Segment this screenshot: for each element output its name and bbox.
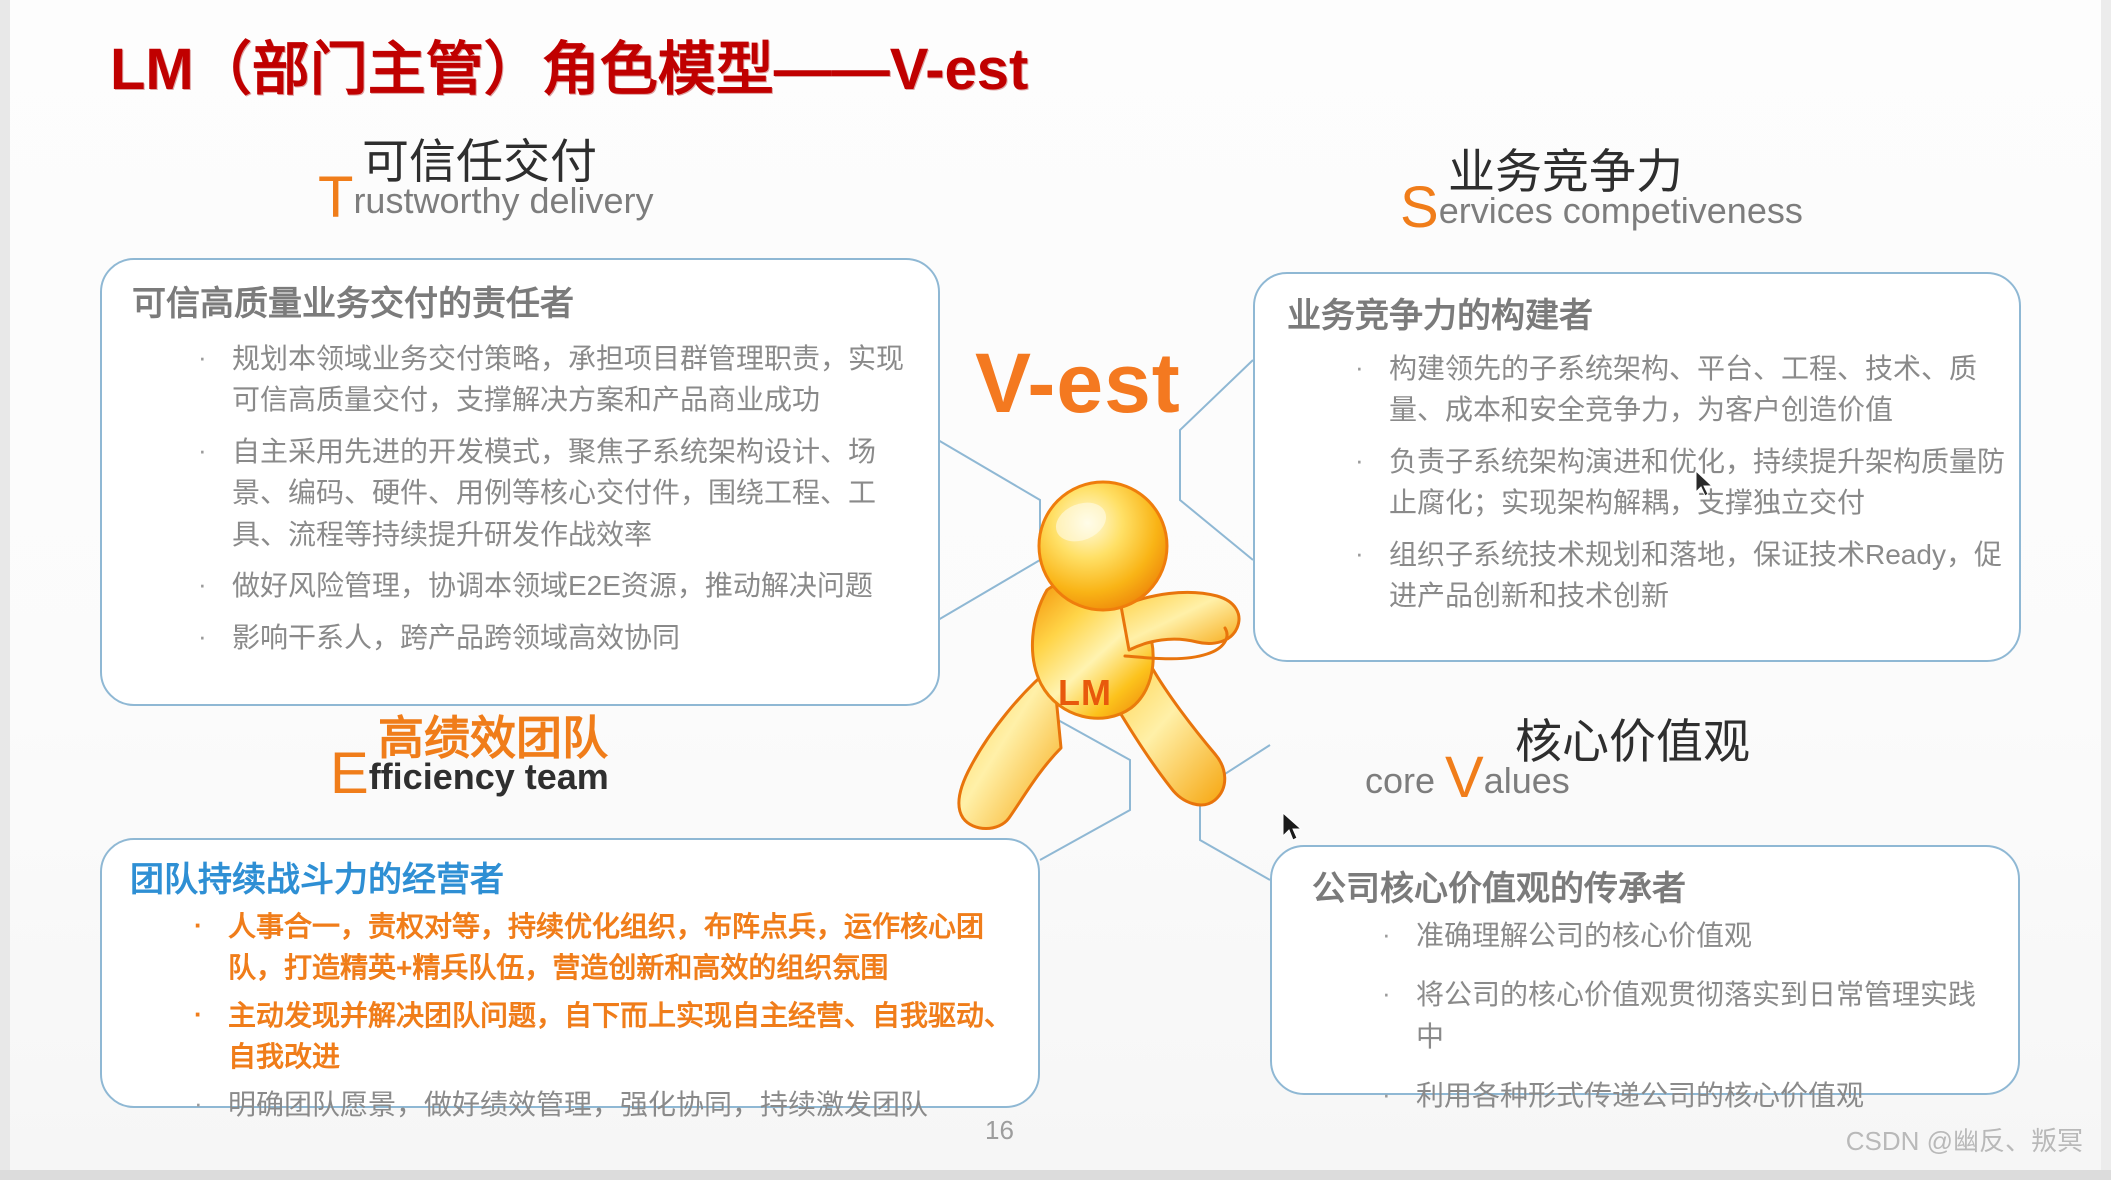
bullet-marker: · [1355, 441, 1389, 479]
bullet-text: 准确理解公司的核心价值观 [1416, 915, 2002, 956]
bullet-text: 人事合一，责权对等，持续优化组织，布阵点兵，运作核心团队，打造精英+精兵队伍，营… [228, 906, 1034, 989]
page-number: 16 [985, 1115, 1014, 1146]
callout-box-values: 公司核心价值观的传承者 ·准确理解公司的核心价值观·将公司的核心价值观贯彻落实到… [1270, 845, 2020, 1095]
callout-bullet-list: ·规划本领域业务交付策略，承担项目群管理职责，实现可信高质量交付，支撑解决方案和… [198, 338, 928, 668]
bullet-text: 规划本领域业务交付策略，承担项目群管理职责，实现可信高质量交付，支撑解决方案和产… [232, 338, 928, 421]
callout-title: 可信高质量业务交付的责任者 [132, 276, 574, 325]
quadrant-header-cn: 高绩效团队 [378, 715, 609, 762]
quadrant-header-en: Trustworthy delivery [318, 182, 654, 220]
quadrant-initial-letter: S [1400, 175, 1439, 240]
bullet-marker: · [1382, 974, 1416, 1012]
callout-bullet-item: ·利用各种形式传递公司的核心价值观 [1382, 1075, 2002, 1116]
quadrant-header-en-rest: alues [1484, 760, 1570, 801]
callout-title: 业务竞争力的构建者 [1287, 288, 1593, 337]
bullet-text: 影响干系人，跨产品跨领域高效协同 [232, 617, 928, 658]
quadrant-header-en: Services competiveness [1400, 192, 1803, 230]
callout-title: 公司核心价值观的传承者 [1312, 861, 1686, 910]
bullet-marker: · [1355, 348, 1389, 386]
quadrant-initial-letter: T [318, 165, 353, 230]
bullet-text: 做好风险管理，协调本领域E2E资源，推动解决问题 [232, 565, 928, 606]
quadrant-header-en-prefix: core [1365, 760, 1445, 801]
callout-bullet-list: ·构建领先的子系统架构、平台、工程、技术、质量、成本和安全竞争力，为客户创造价值… [1355, 348, 2005, 627]
quadrant-header-en: Efficiency team [330, 758, 609, 796]
bullet-marker: · [1382, 915, 1416, 953]
bullet-text: 主动发现并解决团队问题，自下而上实现自主经营、自我驱动、自我改进 [228, 995, 1034, 1078]
callout-box-efficiency: 团队持续战斗力的经营者 ·人事合一，责权对等，持续优化组织，布阵点兵，运作核心团… [100, 838, 1040, 1108]
quadrant-header-cn: 业务竞争力 [1448, 148, 1803, 196]
callout-bullet-item: ·主动发现并解决团队问题，自下而上实现自主经营、自我驱动、自我改进 [194, 995, 1034, 1078]
callout-box-trustworthy: 可信高质量业务交付的责任者 ·规划本领域业务交付策略，承担项目群管理职责，实现可… [100, 258, 940, 706]
bullet-marker: · [198, 617, 232, 655]
quadrant-header-values: 核心价值观 core Values [1365, 718, 1750, 800]
bullet-marker: · [198, 431, 232, 469]
bullet-text: 将公司的核心价值观贯彻落实到日常管理实践中 [1416, 974, 2002, 1057]
bullet-text: 组织子系统技术规划和落地，保证技术Ready，促进产品创新和技术创新 [1389, 534, 2005, 617]
quadrant-header-cn: 核心价值观 [1515, 718, 1750, 766]
quadrant-header-cn: 可信任交付 [362, 138, 654, 186]
mouse-cursor [1282, 812, 1304, 844]
slide-edge-left [0, 0, 10, 1180]
bullet-text: 利用各种形式传递公司的核心价值观 [1416, 1075, 2002, 1116]
slide-edge-right [2101, 0, 2111, 1180]
mouse-cursor-secondary [1695, 470, 1715, 500]
callout-title: 团队持续战斗力的经营者 [130, 852, 504, 901]
slide-canvas: LM（部门主管）角色模型——V-est 可信任交付 Trustworthy de… [0, 0, 2111, 1180]
quadrant-initial-letter: V [1445, 745, 1484, 810]
callout-bullet-item: ·负责子系统架构演进和优化，持续提升架构质量防止腐化；实现架构解耦，支撑独立交付 [1355, 441, 2005, 524]
callout-bullet-item: ·构建领先的子系统架构、平台、工程、技术、质量、成本和安全竞争力，为客户创造价值 [1355, 348, 2005, 431]
page-title: LM（部门主管）角色模型——V-est [110, 22, 1028, 106]
bullet-marker: · [1382, 1075, 1416, 1113]
callout-bullet-list: ·人事合一，责权对等，持续优化组织，布阵点兵，运作核心团队，打造精英+精兵队伍，… [194, 906, 1034, 1131]
watermark: CSDN @幽反、叛冥 [1846, 1121, 2083, 1158]
bullet-marker: · [194, 906, 228, 944]
bullet-marker: · [1355, 534, 1389, 572]
quadrant-header-services: 业务竞争力 Services competiveness [1400, 148, 1803, 230]
callout-bullet-item: ·准确理解公司的核心价值观 [1382, 915, 2002, 956]
bullet-text: 自主采用先进的开发模式，聚焦子系统架构设计、场景、编码、硬件、用例等核心交付件，… [232, 431, 928, 555]
callout-bullet-item: ·自主采用先进的开发模式，聚焦子系统架构设计、场景、编码、硬件、用例等核心交付件… [198, 431, 928, 555]
callout-bullet-item: ·规划本领域业务交付策略，承担项目群管理职责，实现可信高质量交付，支撑解决方案和… [198, 338, 928, 421]
callout-bullet-item: ·人事合一，责权对等，持续优化组织，布阵点兵，运作核心团队，打造精英+精兵队伍，… [194, 906, 1034, 989]
quadrant-header-en-rest: fficiency team [369, 756, 609, 797]
quadrant-header-en: core Values [1365, 762, 1750, 800]
callout-bullet-item: ·做好风险管理，协调本领域E2E资源，推动解决问题 [198, 565, 928, 606]
bullet-marker: · [194, 1084, 228, 1122]
callout-box-services: 业务竞争力的构建者 ·构建领先的子系统架构、平台、工程、技术、质量、成本和安全竞… [1253, 272, 2021, 662]
callout-bullet-item: ·明确团队愿景，做好绩效管理，强化协同，持续激发团队 [194, 1084, 1034, 1125]
callout-bullet-item: ·影响干系人，跨产品跨领域高效协同 [198, 617, 928, 658]
quadrant-header-en-rest: rustworthy delivery [353, 180, 653, 221]
running-man-label: LM [1058, 672, 1112, 714]
bullet-marker: · [198, 338, 232, 376]
bullet-marker: · [194, 995, 228, 1033]
bullet-text: 明确团队愿景，做好绩效管理，强化协同，持续激发团队 [228, 1084, 1034, 1125]
bullet-text: 构建领先的子系统架构、平台、工程、技术、质量、成本和安全竞争力，为客户创造价值 [1389, 348, 2005, 431]
running-man-icon [935, 470, 1265, 840]
callout-bullet-item: ·组织子系统技术规划和落地，保证技术Ready，促进产品创新和技术创新 [1355, 534, 2005, 617]
bullet-marker: · [198, 565, 232, 603]
quadrant-header-en-rest: ervices competiveness [1439, 190, 1803, 231]
quadrant-header-trustworthy: 可信任交付 Trustworthy delivery [318, 138, 654, 220]
slide-edge-bottom [0, 1170, 2111, 1180]
quadrant-initial-letter: E [330, 741, 369, 806]
callout-bullet-list: ·准确理解公司的核心价值观·将公司的核心价值观贯彻落实到日常管理实践中·利用各种… [1382, 915, 2002, 1135]
center-vest-label: V-est [975, 335, 1181, 432]
quadrant-header-efficiency: 高绩效团队 Efficiency team [330, 715, 609, 796]
callout-bullet-item: ·将公司的核心价值观贯彻落实到日常管理实践中 [1382, 974, 2002, 1057]
